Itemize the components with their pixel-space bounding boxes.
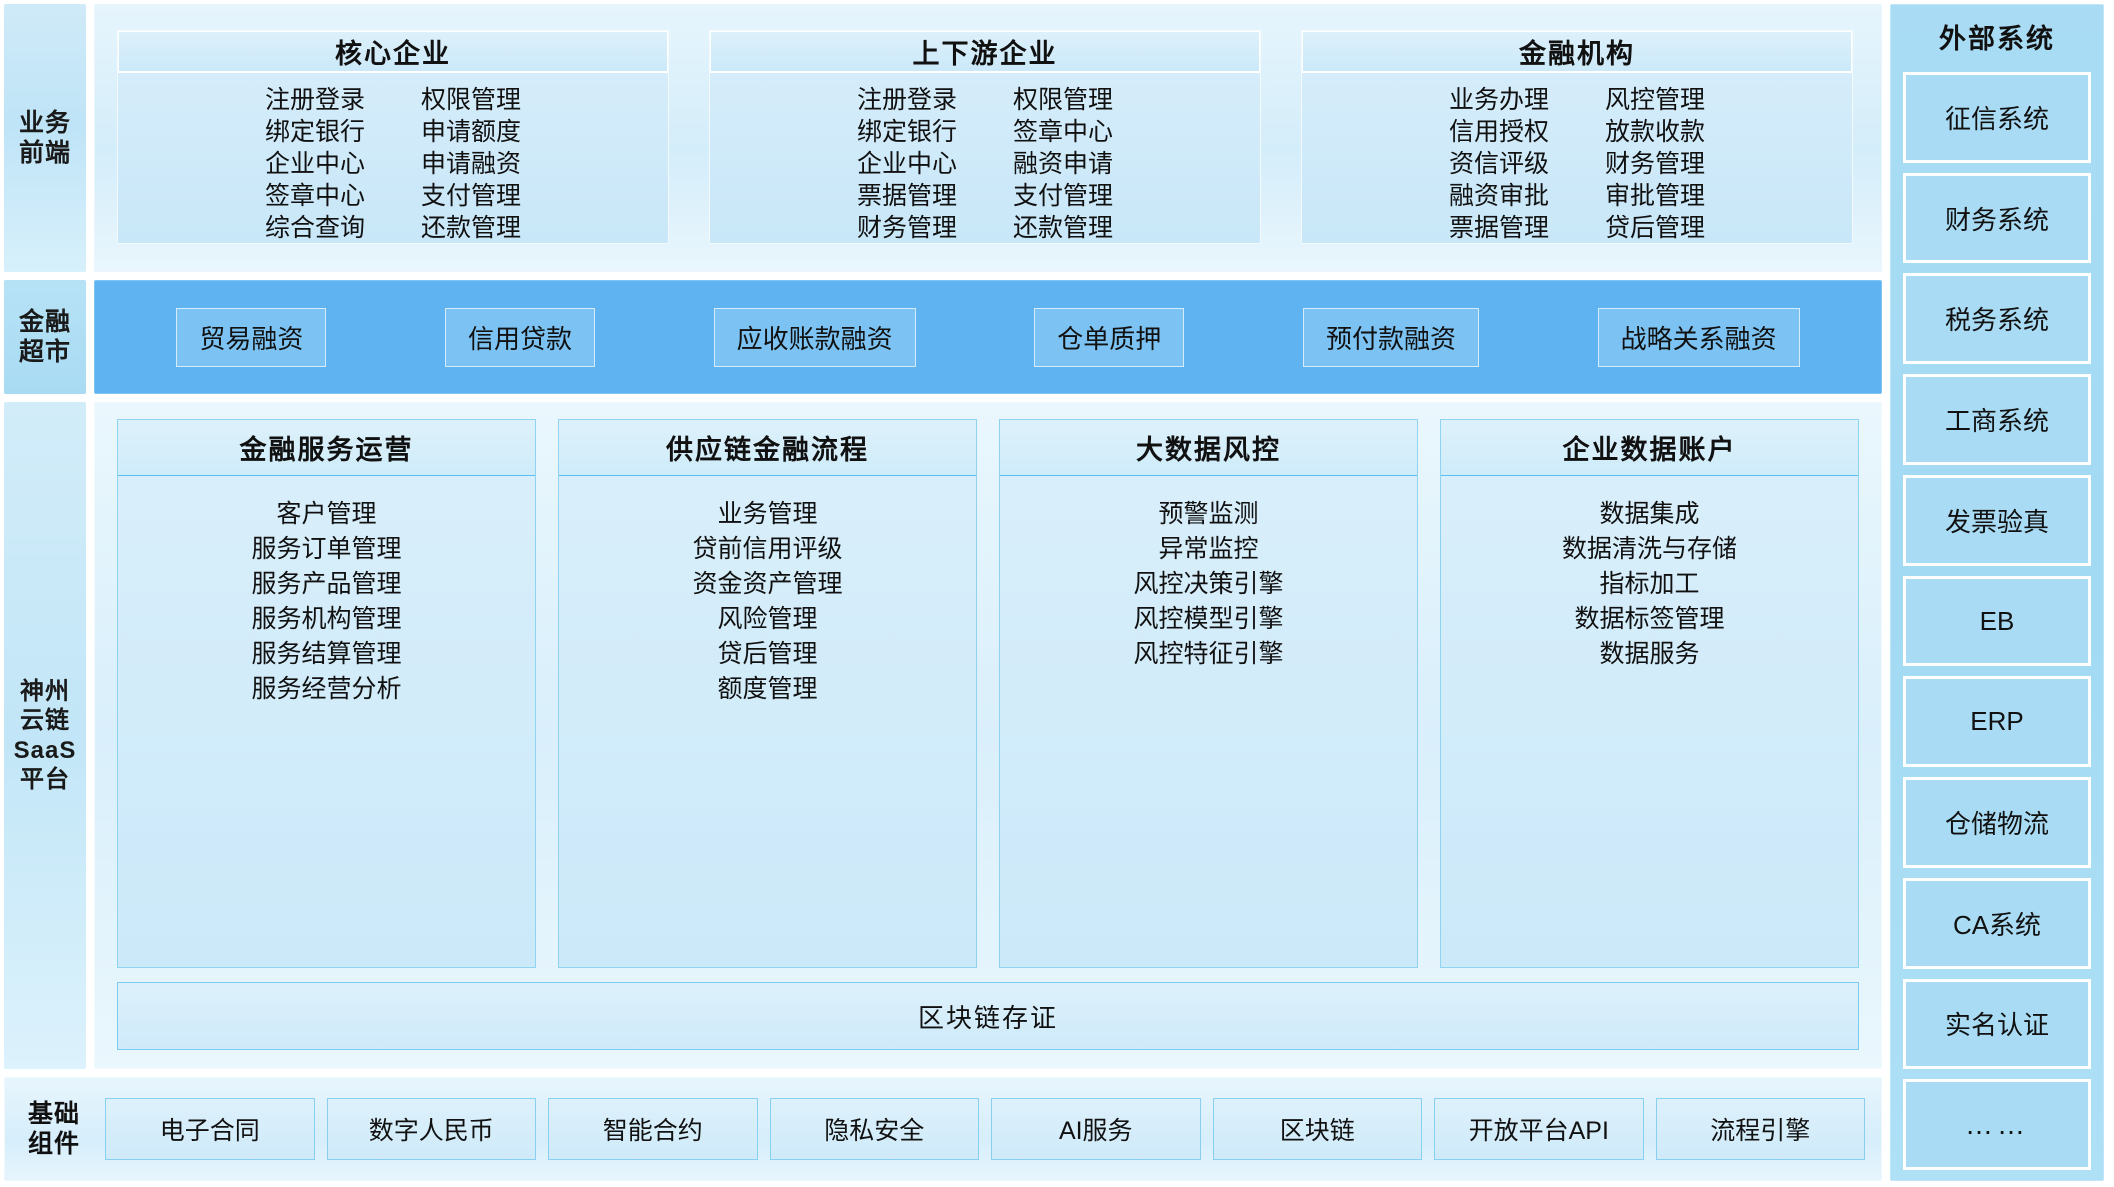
frontend-card-core-enterprise[interactable]: 核心企业 注册登录 绑定银行 企业中心 签章中心 综合查询 权限管理 [117, 30, 669, 244]
frontend-card-column-1: 注册登录 绑定银行 企业中心 签章中心 综合查询 [265, 85, 365, 243]
base-chip-open-platform-api[interactable]: 开放平台API [1434, 1098, 1644, 1160]
list-item[interactable]: 信用授权 [1449, 117, 1549, 147]
base-chip-blockchain[interactable]: 区块链 [1213, 1098, 1423, 1160]
list-item[interactable]: 服务经营分析 [251, 673, 401, 705]
external-chip-more[interactable]: …… [1903, 1079, 2091, 1170]
list-item[interactable]: 客户管理 [276, 498, 376, 530]
external-chip-business-registration-system[interactable]: 工商系统 [1903, 374, 2091, 465]
band-label-line1: 神州 [20, 678, 70, 705]
external-chip-credit-reporting-system[interactable]: 征信系统 [1903, 72, 2091, 163]
market-chip-credit-loan[interactable]: 信用贷款 [445, 308, 595, 367]
external-chip-real-name-authentication[interactable]: 实名认证 [1903, 979, 2091, 1070]
list-item[interactable]: 融资申请 [1013, 149, 1113, 179]
market-chip-strategic-relation-finance[interactable]: 战略关系融资 [1598, 308, 1800, 367]
saas-card-body: 客户管理 服务订单管理 服务产品管理 服务机构管理 服务结算管理 服务经营分析 [118, 476, 535, 967]
external-chip-ca-system[interactable]: CA系统 [1903, 878, 2091, 969]
base-chip-process-engine[interactable]: 流程引擎 [1656, 1098, 1866, 1160]
list-item[interactable]: 风险管理 [717, 603, 817, 635]
list-item[interactable]: 签章中心 [265, 181, 365, 211]
list-item[interactable]: 企业中心 [265, 149, 365, 179]
external-systems-title: 外部系统 [1939, 13, 2055, 62]
band-body-financial-market: 贸易融资 信用贷款 应收账款融资 仓单质押 预付款融资 战略关系融资 [94, 280, 1882, 394]
saas-card-title: 金融服务运营 [118, 420, 535, 476]
band-label-base-components: 基础 组件 [19, 1099, 89, 1160]
external-chip-tax-system[interactable]: 税务系统 [1903, 273, 2091, 364]
band-saas-platform: 神州 云链 SaaS 平台 金融服务运营 客户管理 服务订单管理 服务 [4, 402, 1882, 1069]
band-label-financial-market: 金融 超市 [4, 280, 86, 394]
list-item[interactable]: 风控管理 [1605, 85, 1705, 115]
band-label-line1: 金融 [19, 308, 71, 336]
frontend-card-title: 上下游企业 [710, 31, 1260, 73]
market-chip-warehouse-receipt-pledge[interactable]: 仓单质押 [1034, 308, 1184, 367]
band-label-saas-platform: 神州 云链 SaaS 平台 [4, 402, 86, 1069]
saas-card-title: 大数据风控 [1000, 420, 1417, 476]
frontend-card-financial-institution[interactable]: 金融机构 业务办理 信用授权 资信评级 融资审批 票据管理 风控管理 [1301, 30, 1853, 244]
frontend-panel: 核心企业 注册登录 绑定银行 企业中心 签章中心 综合查询 权限管理 [94, 4, 1882, 272]
saas-card-row: 金融服务运营 客户管理 服务订单管理 服务产品管理 服务机构管理 服务结算管理 … [117, 419, 1859, 968]
main-column: 业务 前端 核心企业 注册登录 绑定银行 企业中心 签章中心 [4, 4, 1882, 1181]
frontend-card-column-2: 权限管理 签章中心 融资申请 支付管理 还款管理 [1013, 85, 1113, 243]
base-chip-privacy-security[interactable]: 隐私安全 [770, 1098, 980, 1160]
base-components-chip-row: 电子合同 数字人民币 智能合约 隐私安全 AI服务 区块链 开放平台API 流程… [105, 1098, 1865, 1160]
external-chip-eb[interactable]: EB [1903, 576, 2091, 667]
list-item[interactable]: 数据标签管理 [1574, 603, 1724, 635]
band-base-components: 基础 组件 电子合同 数字人民币 智能合约 隐私安全 AI服务 区块链 开放平台… [4, 1077, 1882, 1181]
band-body-business-frontend: 核心企业 注册登录 绑定银行 企业中心 签章中心 综合查询 权限管理 [94, 4, 1882, 272]
frontend-card-body: 注册登录 绑定银行 企业中心 签章中心 综合查询 权限管理 申请额度 申请融资 … [118, 73, 668, 243]
list-item[interactable]: 还款管理 [421, 213, 521, 243]
list-item[interactable]: 申请额度 [421, 117, 521, 147]
list-item[interactable]: 服务结算管理 [251, 638, 401, 670]
list-item[interactable]: 贷前信用评级 [692, 533, 842, 565]
list-item[interactable]: 财务管理 [857, 213, 957, 243]
list-item[interactable]: 注册登录 [857, 85, 957, 115]
list-item[interactable]: 数据集成 [1599, 498, 1699, 530]
market-chip-trade-finance[interactable]: 贸易融资 [176, 308, 326, 367]
list-item[interactable]: 申请融资 [421, 149, 521, 179]
base-components-panel: 基础 组件 电子合同 数字人民币 智能合约 隐私安全 AI服务 区块链 开放平台… [4, 1077, 1882, 1181]
saas-card-title: 企业数据账户 [1441, 420, 1858, 476]
external-chip-invoice-verification[interactable]: 发票验真 [1903, 475, 2091, 566]
architecture-diagram: 业务 前端 核心企业 注册登录 绑定银行 企业中心 签章中心 [0, 0, 2114, 1187]
list-item[interactable]: 业务办理 [1449, 85, 1549, 115]
frontend-card-column-1: 业务办理 信用授权 资信评级 融资审批 票据管理 [1449, 85, 1549, 243]
list-item[interactable]: 贷后管理 [717, 638, 817, 670]
band-label-line2: 云链 [20, 707, 70, 734]
band-label-business-frontend: 业务 前端 [4, 4, 86, 272]
blockchain-evidence-bar[interactable]: 区块链存证 [117, 982, 1859, 1050]
saas-card-big-data-risk-control[interactable]: 大数据风控 预警监测 异常监控 风控决策引擎 风控模型引擎 风控特征引擎 [999, 419, 1418, 968]
saas-card-body: 数据集成 数据清洗与存储 指标加工 数据标签管理 数据服务 [1441, 476, 1858, 967]
saas-card-title: 供应链金融流程 [559, 420, 976, 476]
frontend-card-column-1: 注册登录 绑定银行 企业中心 票据管理 财务管理 [857, 85, 957, 243]
list-item[interactable]: 财务管理 [1605, 149, 1705, 179]
saas-card-supply-chain-finance-process[interactable]: 供应链金融流程 业务管理 贷前信用评级 资金资产管理 风险管理 贷后管理 额度管… [558, 419, 977, 968]
band-body-saas-platform: 金融服务运营 客户管理 服务订单管理 服务产品管理 服务机构管理 服务结算管理 … [94, 402, 1882, 1069]
list-item[interactable]: 绑定银行 [857, 117, 957, 147]
base-chip-digital-rmb[interactable]: 数字人民币 [327, 1098, 537, 1160]
list-item[interactable]: 资信评级 [1449, 149, 1549, 179]
band-label-line2: 前端 [19, 139, 71, 167]
band-label-line1: 业务 [19, 109, 71, 137]
external-chip-warehousing-logistics[interactable]: 仓储物流 [1903, 777, 2091, 868]
base-chip-electronic-contract[interactable]: 电子合同 [105, 1098, 315, 1160]
list-item[interactable]: 数据服务 [1599, 638, 1699, 670]
list-item[interactable]: 企业中心 [857, 149, 957, 179]
list-item[interactable]: 放款收款 [1605, 117, 1705, 147]
saas-panel: 金融服务运营 客户管理 服务订单管理 服务产品管理 服务机构管理 服务结算管理 … [94, 402, 1882, 1069]
band-business-frontend: 业务 前端 核心企业 注册登录 绑定银行 企业中心 签章中心 [4, 4, 1882, 272]
list-item[interactable]: 数据清洗与存储 [1562, 533, 1737, 565]
list-item[interactable]: 绑定银行 [265, 117, 365, 147]
financial-market-panel: 贸易融资 信用贷款 应收账款融资 仓单质押 预付款融资 战略关系融资 [94, 280, 1882, 394]
list-item[interactable]: 票据管理 [1449, 213, 1549, 243]
list-item[interactable]: 服务订单管理 [251, 533, 401, 565]
external-chip-finance-system[interactable]: 财务系统 [1903, 173, 2091, 264]
saas-card-body: 业务管理 贷前信用评级 资金资产管理 风险管理 贷后管理 额度管理 [559, 476, 976, 967]
list-item[interactable]: 还款管理 [1013, 213, 1113, 243]
list-item[interactable]: 贷后管理 [1605, 213, 1705, 243]
list-item[interactable]: 权限管理 [421, 85, 521, 115]
frontend-card-body: 业务办理 信用授权 资信评级 融资审批 票据管理 风控管理 放款收款 财务管理 … [1302, 73, 1852, 243]
frontend-card-body: 注册登录 绑定银行 企业中心 票据管理 财务管理 权限管理 签章中心 融资申请 … [710, 73, 1260, 243]
list-item[interactable]: 审批管理 [1605, 181, 1705, 211]
frontend-card-title: 金融机构 [1302, 31, 1852, 73]
band-financial-market: 金融 超市 贸易融资 信用贷款 应收账款融资 仓单质押 预付款融资 战略关系融资 [4, 280, 1882, 394]
base-chip-ai-service[interactable]: AI服务 [991, 1098, 1201, 1160]
list-item[interactable]: 额度管理 [717, 673, 817, 705]
list-item[interactable]: 服务机构管理 [251, 603, 401, 635]
list-item[interactable]: 签章中心 [1013, 117, 1113, 147]
list-item[interactable]: 综合查询 [265, 213, 365, 243]
list-item[interactable]: 注册登录 [265, 85, 365, 115]
list-item[interactable]: 融资审批 [1449, 181, 1549, 211]
band-label-line3: SaaS [14, 737, 77, 764]
list-item[interactable]: 资金资产管理 [692, 568, 842, 600]
external-systems-panel: 外部系统 征信系统 财务系统 税务系统 工商系统 发票验真 EB ERP 仓储物… [1890, 4, 2104, 1181]
band-label-line2: 超市 [19, 338, 71, 366]
list-item[interactable]: 风控模型引擎 [1133, 603, 1283, 635]
band-label-line1: 基础 [28, 1100, 80, 1128]
band-label-line4: 平台 [20, 766, 70, 793]
list-item[interactable]: 风控特征引擎 [1133, 638, 1283, 670]
list-item[interactable]: 服务产品管理 [251, 568, 401, 600]
list-item[interactable]: 权限管理 [1013, 85, 1113, 115]
base-chip-smart-contract[interactable]: 智能合约 [548, 1098, 758, 1160]
list-item[interactable]: 风控决策引擎 [1133, 568, 1283, 600]
list-item[interactable]: 支付管理 [421, 181, 521, 211]
list-item[interactable]: 异常监控 [1158, 533, 1258, 565]
market-chip-receivables-finance[interactable]: 应收账款融资 [714, 308, 916, 367]
list-item[interactable]: 业务管理 [717, 498, 817, 530]
list-item[interactable]: 预警监测 [1158, 498, 1258, 530]
external-chip-erp[interactable]: ERP [1903, 676, 2091, 767]
saas-card-enterprise-data-account[interactable]: 企业数据账户 数据集成 数据清洗与存储 指标加工 数据标签管理 数据服务 [1440, 419, 1859, 968]
market-chip-prepayment-finance[interactable]: 预付款融资 [1303, 308, 1479, 367]
list-item[interactable]: 指标加工 [1599, 568, 1699, 600]
list-item[interactable]: 支付管理 [1013, 181, 1113, 211]
band-label-line2: 组件 [28, 1130, 80, 1158]
frontend-card-column-2: 风控管理 放款收款 财务管理 审批管理 贷后管理 [1605, 85, 1705, 243]
list-item[interactable]: 票据管理 [857, 181, 957, 211]
frontend-card-column-2: 权限管理 申请额度 申请融资 支付管理 还款管理 [421, 85, 521, 243]
frontend-card-title: 核心企业 [118, 31, 668, 73]
saas-card-body: 预警监测 异常监控 风控决策引擎 风控模型引擎 风控特征引擎 [1000, 476, 1417, 967]
frontend-card-upstream-downstream[interactable]: 上下游企业 注册登录 绑定银行 企业中心 票据管理 财务管理 权限管理 [709, 30, 1261, 244]
saas-card-financial-service-operation[interactable]: 金融服务运营 客户管理 服务订单管理 服务产品管理 服务机构管理 服务结算管理 … [117, 419, 536, 968]
